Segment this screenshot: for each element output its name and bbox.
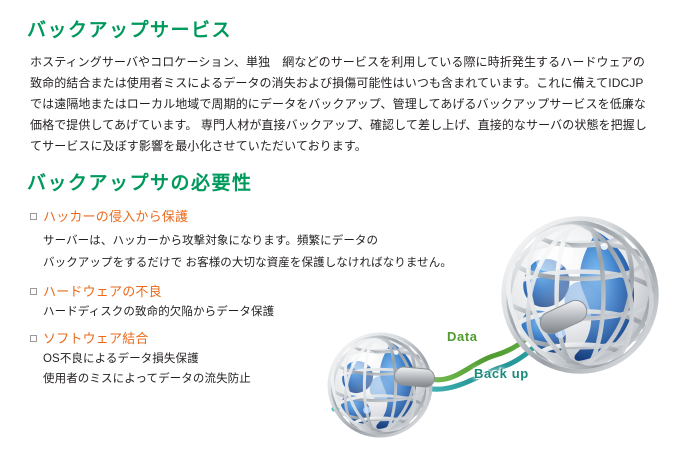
bullet-block-software: ソフトウェア結合 OS不良によるデータ損失保護 使用者のミスによってデータの流失… — [30, 328, 251, 389]
globe-small — [313, 317, 447, 453]
square-bullet-icon — [30, 288, 37, 295]
intro-line: 致命的結合または使用者ミスによるデータの消失および損傷可能性はいつも含まれていま… — [30, 73, 650, 94]
cable-label-data: Data — [447, 329, 478, 344]
backup-service-page: バックアップサービス ホスティングサーバやコロケーション、単独 網などのサービス… — [0, 0, 680, 460]
bullet-heading-label: ハードウェアの不良 — [43, 281, 162, 300]
bullet-body: ハードディスクの致命的欠陥からデータ保護 — [43, 302, 274, 322]
page-title: バックアップサービス — [27, 15, 232, 42]
bullet-body: OS不良によるデータ損失保護 使用者のミスによってデータの流失防止 — [43, 349, 251, 389]
globes-illustration — [300, 195, 680, 460]
intro-line: 価格で提供してあげています。 専門人材が直接バックアップ、確認して差し上げ、直接… — [30, 115, 650, 136]
intro-line: ホスティングサーバやコロケーション、単独 網などのサービスを利用している際に時折… — [30, 52, 650, 73]
intro-line: てサービスに及ぼす影響を最小化させていただいております。 — [30, 136, 650, 157]
bullet-block-hardware: ハードウェアの不良 ハードディスクの致命的欠陥からデータ保護 — [30, 281, 274, 322]
intro-paragraph: ホスティングサーバやコロケーション、単独 網などのサービスを利用している際に時折… — [30, 52, 650, 157]
cable-plug-small — [394, 367, 434, 387]
bullet-heading-label: ソフトウェア結合 — [43, 328, 149, 347]
bullet-heading: ハードウェアの不良 — [30, 281, 274, 300]
section-title-necessity: バックアップサの必要性 — [27, 168, 253, 195]
square-bullet-icon — [30, 213, 37, 220]
bullet-heading: ソフトウェア結合 — [30, 328, 251, 347]
bullet-line: 使用者のミスによってデータの流失防止 — [43, 369, 251, 389]
intro-line: では遠隔地またはローカル地域で周期的にデータをバックアップ、管理してあげるバック… — [30, 94, 650, 115]
bullet-line: ハードディスクの致命的欠陥からデータ保護 — [43, 302, 274, 322]
bullet-line: OS不良によるデータ損失保護 — [43, 349, 251, 369]
bullet-heading-label: ハッカーの侵入から保護 — [43, 206, 188, 225]
cable-label-backup: Back up — [474, 366, 529, 381]
square-bullet-icon — [30, 335, 37, 342]
